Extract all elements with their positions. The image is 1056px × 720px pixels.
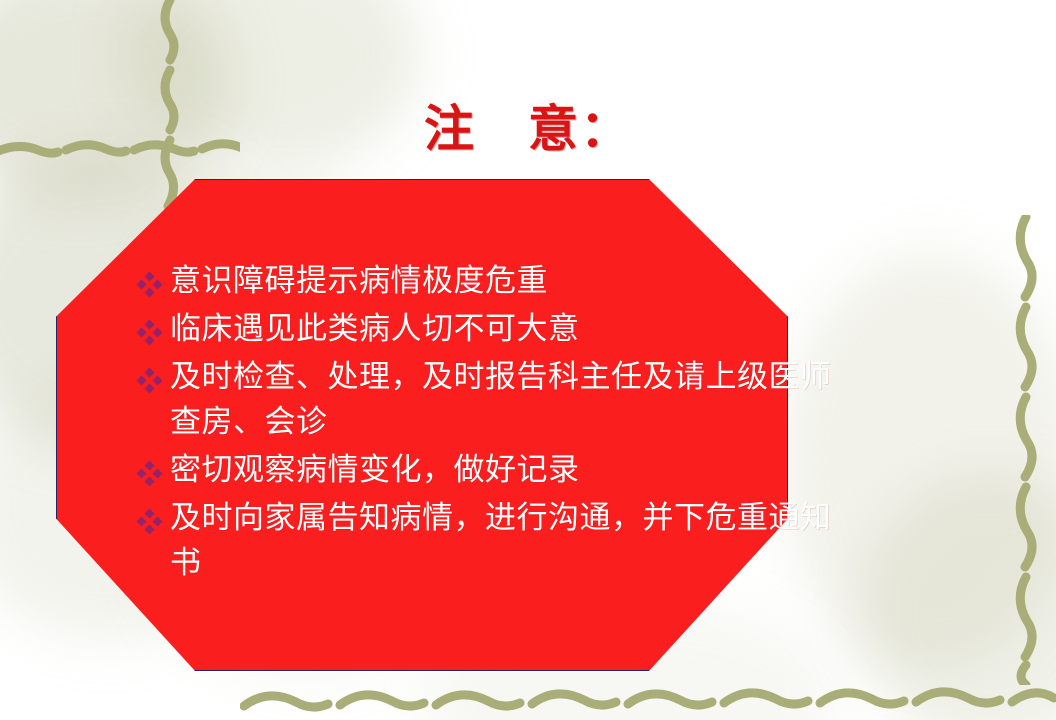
list-item: 意识障碍提示病情极度危重 [136,258,856,303]
diamond-cluster-bullet-icon [136,306,170,346]
slide-canvas: 注 意： 意识障碍提示病情极度危重 [0,0,1056,720]
list-item: 临床遇见此类病人切不可大意 [136,306,856,351]
vine-vertical-right-icon [1000,215,1056,685]
bullet-list: 意识障碍提示病情极度危重 临床遇见此类病人切不可大意 [136,258,856,588]
diamond-cluster-bullet-icon [136,258,170,298]
list-item: 及时向家属告知病情，进行沟通，并下危重通知书 [136,495,856,585]
floral-watermark [860,470,1056,720]
diamond-cluster-bullet-icon [136,447,170,487]
list-item: 及时检查、处理，及时报告科主任及请上级医师查房、会诊 [136,354,856,444]
list-item-label: 及时向家属告知病情，进行沟通，并下危重通知书 [170,495,856,585]
slide-title: 注 意： [0,96,1056,162]
diamond-cluster-bullet-icon [136,354,170,394]
vine-horizontal-bottom-icon [240,682,1056,720]
list-item-label: 临床遇见此类病人切不可大意 [170,306,856,351]
diamond-cluster-bullet-icon [136,495,170,535]
list-item-label: 密切观察病情变化，做好记录 [170,447,856,492]
list-item-label: 意识障碍提示病情极度危重 [170,258,856,303]
list-item: 密切观察病情变化，做好记录 [136,447,856,492]
list-item-label: 及时检查、处理，及时报告科主任及请上级医师查房、会诊 [170,354,856,444]
